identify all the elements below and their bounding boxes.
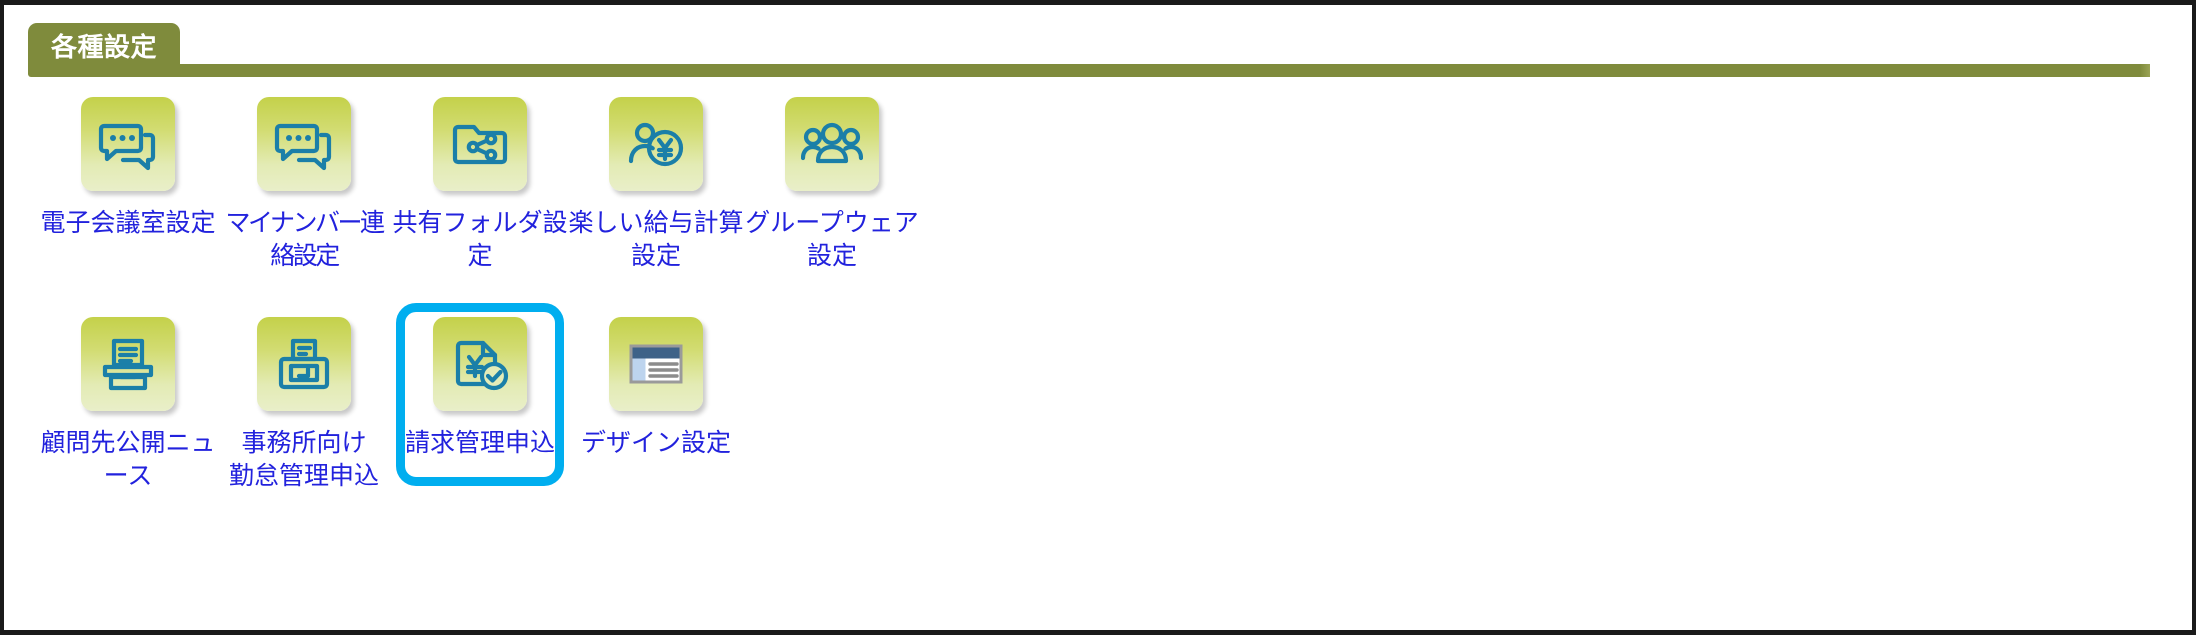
tab-各種設定[interactable]: 各種設定 (28, 23, 180, 71)
tile-background (609, 97, 703, 191)
grid-item-label: 共有フォルダ設定 (392, 207, 568, 273)
settings-icon-grid: 電子会議室設定 (40, 83, 2140, 493)
grid-item-label: デザイン設定 (581, 427, 731, 460)
grid-item-client-public-news[interactable]: 顧問先公開ニュース (40, 303, 216, 493)
grid-item-office-attendance-application[interactable]: 事務所向け 勤怠管理申込 (216, 303, 392, 493)
grid-item-invoice-management-application[interactable]: 請求管理申込 (392, 303, 568, 460)
grid-item-my-number-contact[interactable]: マイナンバー連絡設定 (216, 83, 392, 273)
tile-background (81, 97, 175, 191)
tab-label: 各種設定 (51, 34, 157, 60)
tile-background (257, 97, 351, 191)
chat-bubbles-icon (273, 113, 335, 175)
time-clock-icon (273, 333, 335, 395)
grid-item-label: 顧問先公開ニュース (40, 427, 216, 493)
layout-design-icon (625, 333, 687, 395)
grid-item-groupware[interactable]: グループウェア設定 (744, 83, 920, 273)
tile-background (785, 97, 879, 191)
grid-item-label: グループウェア設定 (744, 207, 920, 273)
grid-item-label: 楽しい給与計算設定 (568, 207, 744, 273)
tile-background (433, 317, 527, 411)
tab-strip-underline (28, 64, 2150, 77)
tile-background (609, 317, 703, 411)
folder-share-icon (449, 113, 511, 175)
icon-grid-row-1: 電子会議室設定 (40, 83, 2140, 273)
printer-news-icon (97, 333, 159, 395)
tile-background (433, 97, 527, 191)
grid-item-design-settings[interactable]: デザイン設定 (568, 303, 744, 460)
tile-background (81, 317, 175, 411)
invoice-yen-check-icon (449, 333, 511, 395)
grid-item-label: 事務所向け 勤怠管理申込 (229, 427, 379, 493)
tile-background (257, 317, 351, 411)
person-yen-icon (625, 113, 687, 175)
grid-item-electronic-meeting-room[interactable]: 電子会議室設定 (40, 83, 216, 240)
grid-item-label: 請求管理申込 (405, 427, 555, 460)
grid-item-payroll-calculation[interactable]: 楽しい給与計算設定 (568, 83, 744, 273)
grid-item-label: マイナンバー連絡設定 (216, 207, 392, 273)
grid-item-label: 電子会議室設定 (40, 207, 215, 240)
group-people-icon (801, 113, 863, 175)
icon-grid-row-2: 顧問先公開ニュース (40, 303, 2140, 493)
chat-bubbles-icon (97, 113, 159, 175)
grid-item-shared-folder[interactable]: 共有フォルダ設定 (392, 83, 568, 273)
tab-strip: 各種設定 (4, 15, 2192, 77)
settings-panel-window: 各種設定 (0, 0, 2196, 635)
